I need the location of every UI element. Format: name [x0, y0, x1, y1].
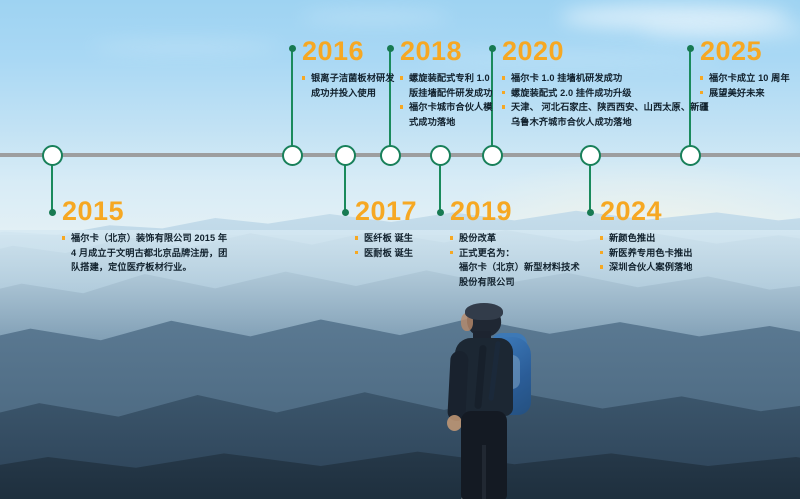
- year-label-2015: 2015: [62, 198, 227, 225]
- bullet-item: 4 月成立于文明古都北京品牌注册，团: [62, 246, 227, 261]
- timeline-infographic: 2015福尔卡（北京）装饰有限公司 2015 年4 月成立于文明古都北京品牌注册…: [0, 0, 800, 499]
- year-label-2016: 2016: [302, 38, 395, 65]
- entry-2015[interactable]: 2015福尔卡（北京）装饰有限公司 2015 年4 月成立于文明古都北京品牌注册…: [62, 198, 227, 275]
- cloud-wisp: [300, 10, 450, 23]
- bullet-text: 天津、 河北石家庄、陕西西安、山西太原、新疆: [511, 100, 709, 115]
- bullet-text: 福尔卡（北京）新型材料技术: [459, 260, 580, 275]
- timeline-node-2017[interactable]: [335, 145, 356, 166]
- timeline-stem-dot-2015: [49, 209, 56, 216]
- entry-2016[interactable]: 2016银离子洁菌板材研发成功并投入使用: [302, 38, 395, 100]
- hiker-figure: [437, 305, 562, 499]
- bullet-text: 4 月成立于文明古都北京品牌注册，团: [71, 246, 227, 261]
- timeline-stem-dot-2019: [437, 209, 444, 216]
- bullet-list-2020: 福尔卡 1.0 挂墙机研发成功螺旋装配式 2.0 挂件成功升级天津、 河北石家庄…: [502, 71, 709, 129]
- entry-2017[interactable]: 2017医纤板 诞生医耐板 诞生: [355, 198, 417, 260]
- hiker-leg-split: [482, 445, 486, 499]
- year-label-2020: 2020: [502, 38, 709, 65]
- entry-2024[interactable]: 2024新颜色推出新医养专用色卡推出深圳合伙人案例落地: [600, 198, 693, 275]
- year-label-2019: 2019: [450, 198, 580, 225]
- bullet-item: 股份有限公司: [450, 275, 580, 290]
- year-label-2018: 2018: [400, 38, 493, 65]
- bullet-item: 正式更名为：: [450, 246, 580, 261]
- bullet-text: 福尔卡（北京）装饰有限公司 2015 年: [71, 231, 227, 246]
- year-label-2025: 2025: [700, 38, 790, 65]
- entry-2020[interactable]: 2020福尔卡 1.0 挂墙机研发成功螺旋装配式 2.0 挂件成功升级天津、 河…: [502, 38, 709, 129]
- timeline-node-2019[interactable]: [430, 145, 451, 166]
- timeline-stem-2015: [51, 164, 54, 212]
- bullet-list-2025: 福尔卡成立 10 周年展望美好未来: [700, 71, 790, 100]
- bullet-item: 福尔卡城市合伙人模: [400, 100, 493, 115]
- timeline-node-2020[interactable]: [482, 145, 503, 166]
- bullet-item: 福尔卡（北京）装饰有限公司 2015 年: [62, 231, 227, 246]
- bullet-list-2015: 福尔卡（北京）装饰有限公司 2015 年4 月成立于文明古都北京品牌注册，团队搭…: [62, 231, 227, 275]
- bullet-item: 福尔卡（北京）新型材料技术: [450, 260, 580, 275]
- hiker-hand: [447, 415, 462, 431]
- bullet-text: 新医养专用色卡推出: [609, 246, 693, 261]
- timeline-stem-dot-2016: [289, 45, 296, 52]
- bullet-item: 成功并投入使用: [302, 86, 395, 101]
- bullet-item: 新医养专用色卡推出: [600, 246, 693, 261]
- timeline-stem-dot-2024: [587, 209, 594, 216]
- bullet-text: 成功并投入使用: [311, 86, 395, 101]
- entry-2025[interactable]: 2025福尔卡成立 10 周年展望美好未来: [700, 38, 790, 100]
- timeline-stem-2017: [344, 164, 347, 212]
- bullet-list-2016: 银离子洁菌板材研发成功并投入使用: [302, 71, 395, 100]
- hiker-hat: [465, 303, 503, 320]
- bullet-text: 福尔卡城市合伙人模: [409, 100, 493, 115]
- bullet-text: 医耐板 诞生: [364, 246, 417, 261]
- bullet-text: 展望美好未来: [709, 86, 790, 101]
- bullet-item: 股份改革: [450, 231, 580, 246]
- bullet-item: 螺旋装配式专利 1.0: [400, 71, 493, 86]
- entry-2018[interactable]: 2018螺旋装配式专利 1.0版挂墙配件研发成功福尔卡城市合伙人模式成功落地: [400, 38, 493, 129]
- hiker-arm: [447, 351, 469, 422]
- bullet-item: 天津、 河北石家庄、陕西西安、山西太原、新疆: [502, 100, 709, 115]
- bullet-text: 福尔卡成立 10 周年: [709, 71, 790, 86]
- bullet-item: 福尔卡 1.0 挂墙机研发成功: [502, 71, 709, 86]
- timeline-stem-2016: [291, 48, 294, 155]
- bullet-item: 队搭建，定位医疗板材行业。: [62, 260, 227, 275]
- timeline-stem-2019: [439, 164, 442, 212]
- year-label-2017: 2017: [355, 198, 417, 225]
- timeline-node-2025[interactable]: [680, 145, 701, 166]
- timeline-node-2016[interactable]: [282, 145, 303, 166]
- bullet-text: 式成功落地: [409, 115, 493, 130]
- bullet-list-2017: 医纤板 诞生医耐板 诞生: [355, 231, 417, 260]
- bullet-item: 新颜色推出: [600, 231, 693, 246]
- bullet-item: 医纤板 诞生: [355, 231, 417, 246]
- bullet-item: 式成功落地: [400, 115, 493, 130]
- cloud-wisp: [90, 40, 280, 54]
- timeline-node-2024[interactable]: [580, 145, 601, 166]
- bullet-item: 深圳合伙人案例落地: [600, 260, 693, 275]
- year-label-2024: 2024: [600, 198, 693, 225]
- bullet-list-2024: 新颜色推出新医养专用色卡推出深圳合伙人案例落地: [600, 231, 693, 275]
- bullet-item: 福尔卡成立 10 周年: [700, 71, 790, 86]
- bullet-text: 乌鲁木齐城市合伙人成功落地: [511, 115, 709, 130]
- bullet-text: 深圳合伙人案例落地: [609, 260, 693, 275]
- bullet-item: 医耐板 诞生: [355, 246, 417, 261]
- bullet-text: 福尔卡 1.0 挂墙机研发成功: [511, 71, 709, 86]
- bullet-item: 乌鲁木齐城市合伙人成功落地: [502, 115, 709, 130]
- bullet-text: 医纤板 诞生: [364, 231, 417, 246]
- bullet-text: 新颜色推出: [609, 231, 693, 246]
- entry-2019[interactable]: 2019股份改革正式更名为：福尔卡（北京）新型材料技术股份有限公司: [450, 198, 580, 289]
- bullet-item: 展望美好未来: [700, 86, 790, 101]
- bullet-list-2019: 股份改革正式更名为：福尔卡（北京）新型材料技术股份有限公司: [450, 231, 580, 289]
- bullet-text: 正式更名为：: [459, 246, 580, 261]
- bullet-text: 银离子洁菌板材研发: [311, 71, 395, 86]
- timeline-node-2015[interactable]: [42, 145, 63, 166]
- bullet-text: 股份改革: [459, 231, 580, 246]
- bullet-text: 螺旋装配式 2.0 挂件成功升级: [511, 86, 709, 101]
- bullet-text: 版挂墙配件研发成功: [409, 86, 493, 101]
- timeline-node-2018[interactable]: [380, 145, 401, 166]
- bullet-item: 版挂墙配件研发成功: [400, 86, 493, 101]
- bullet-list-2018: 螺旋装配式专利 1.0版挂墙配件研发成功福尔卡城市合伙人模式成功落地: [400, 71, 493, 129]
- bullet-text: 螺旋装配式专利 1.0: [409, 71, 493, 86]
- bullet-item: 银离子洁菌板材研发: [302, 71, 395, 86]
- bullet-item: 螺旋装配式 2.0 挂件成功升级: [502, 86, 709, 101]
- timeline-stem-dot-2017: [342, 209, 349, 216]
- bullet-text: 股份有限公司: [459, 275, 580, 290]
- bullet-text: 队搭建，定位医疗板材行业。: [71, 260, 227, 275]
- timeline-stem-2024: [589, 164, 592, 212]
